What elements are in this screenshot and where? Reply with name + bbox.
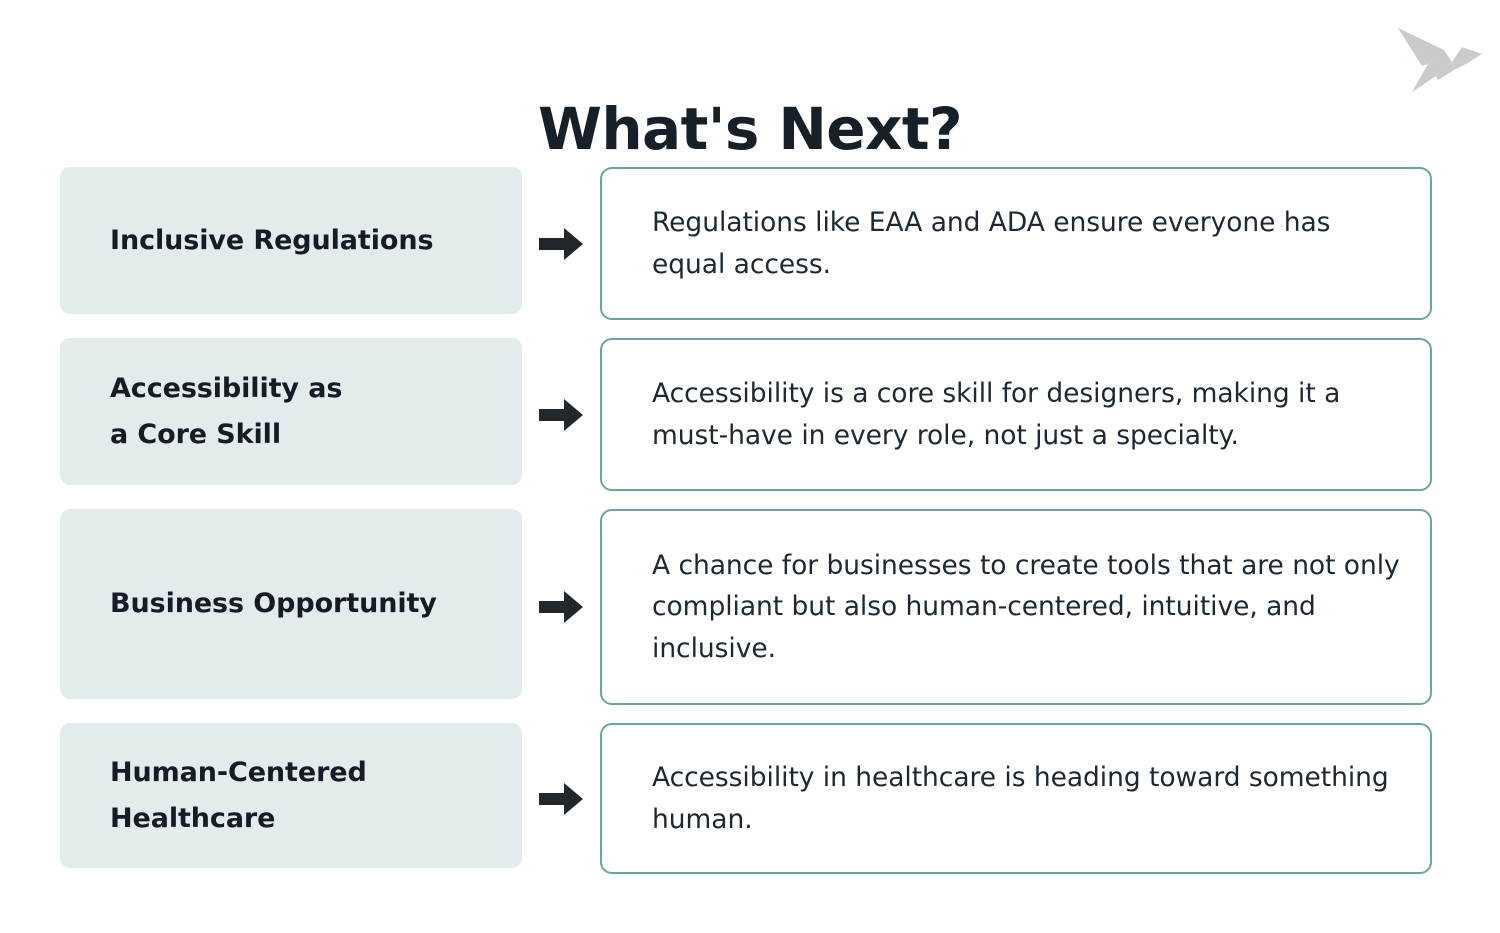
- arrow-right-icon: [522, 509, 600, 705]
- row-label-line-1: Human-Centered: [110, 757, 367, 788]
- list-item: Business Opportunity A chance for busine…: [0, 509, 1500, 705]
- row-description-inclusive-regulations[interactable]: Regulations like EAA and ADA ensure ever…: [600, 167, 1432, 320]
- row-label-inclusive-regulations[interactable]: Inclusive Regulations: [60, 167, 522, 314]
- row-label-text: Business Opportunity: [110, 581, 437, 626]
- list-item: Accessibility as a Core Skill Accessibil…: [0, 338, 1500, 491]
- origami-bird-logo: [1392, 20, 1488, 96]
- row-label-line-1: Inclusive Regulations: [110, 225, 433, 256]
- content-rows: Inclusive Regulations Regulations like E…: [0, 167, 1500, 892]
- list-item: Human-Centered Healthcare Accessibility …: [0, 723, 1500, 874]
- arrow-right-icon: [522, 338, 600, 491]
- row-description-text: Accessibility is a core skill for design…: [652, 373, 1404, 456]
- row-description-text: Regulations like EAA and ADA ensure ever…: [652, 202, 1404, 285]
- row-label-human-centered-healthcare[interactable]: Human-Centered Healthcare: [60, 723, 522, 868]
- list-item: Inclusive Regulations Regulations like E…: [0, 167, 1500, 320]
- row-label-text: Accessibility as a Core Skill: [110, 366, 342, 457]
- row-description-business-opportunity[interactable]: A chance for businesses to create tools …: [600, 509, 1432, 705]
- row-label-accessibility-core-skill[interactable]: Accessibility as a Core Skill: [60, 338, 522, 485]
- arrow-right-icon: [522, 167, 600, 320]
- row-label-line-2: Healthcare: [110, 803, 275, 834]
- row-label-line-1: Accessibility as: [110, 373, 342, 404]
- row-description-human-centered-healthcare[interactable]: Accessibility in healthcare is heading t…: [600, 723, 1432, 874]
- row-label-text: Inclusive Regulations: [110, 218, 433, 263]
- origami-bird-icon: [1392, 20, 1488, 96]
- row-label-business-opportunity[interactable]: Business Opportunity: [60, 509, 522, 699]
- row-label-text: Human-Centered Healthcare: [110, 750, 367, 841]
- arrow-right-icon: [522, 723, 600, 874]
- row-description-accessibility-core-skill[interactable]: Accessibility is a core skill for design…: [600, 338, 1432, 491]
- row-label-line-1: Business Opportunity: [110, 588, 437, 619]
- row-label-line-2: a Core Skill: [110, 419, 281, 450]
- row-description-text: A chance for businesses to create tools …: [652, 545, 1404, 670]
- row-description-text: Accessibility in healthcare is heading t…: [652, 757, 1404, 840]
- page-title: What's Next?: [0, 99, 1500, 160]
- slide-canvas: What's Next? Inclusive Regulations Regul…: [0, 0, 1500, 933]
